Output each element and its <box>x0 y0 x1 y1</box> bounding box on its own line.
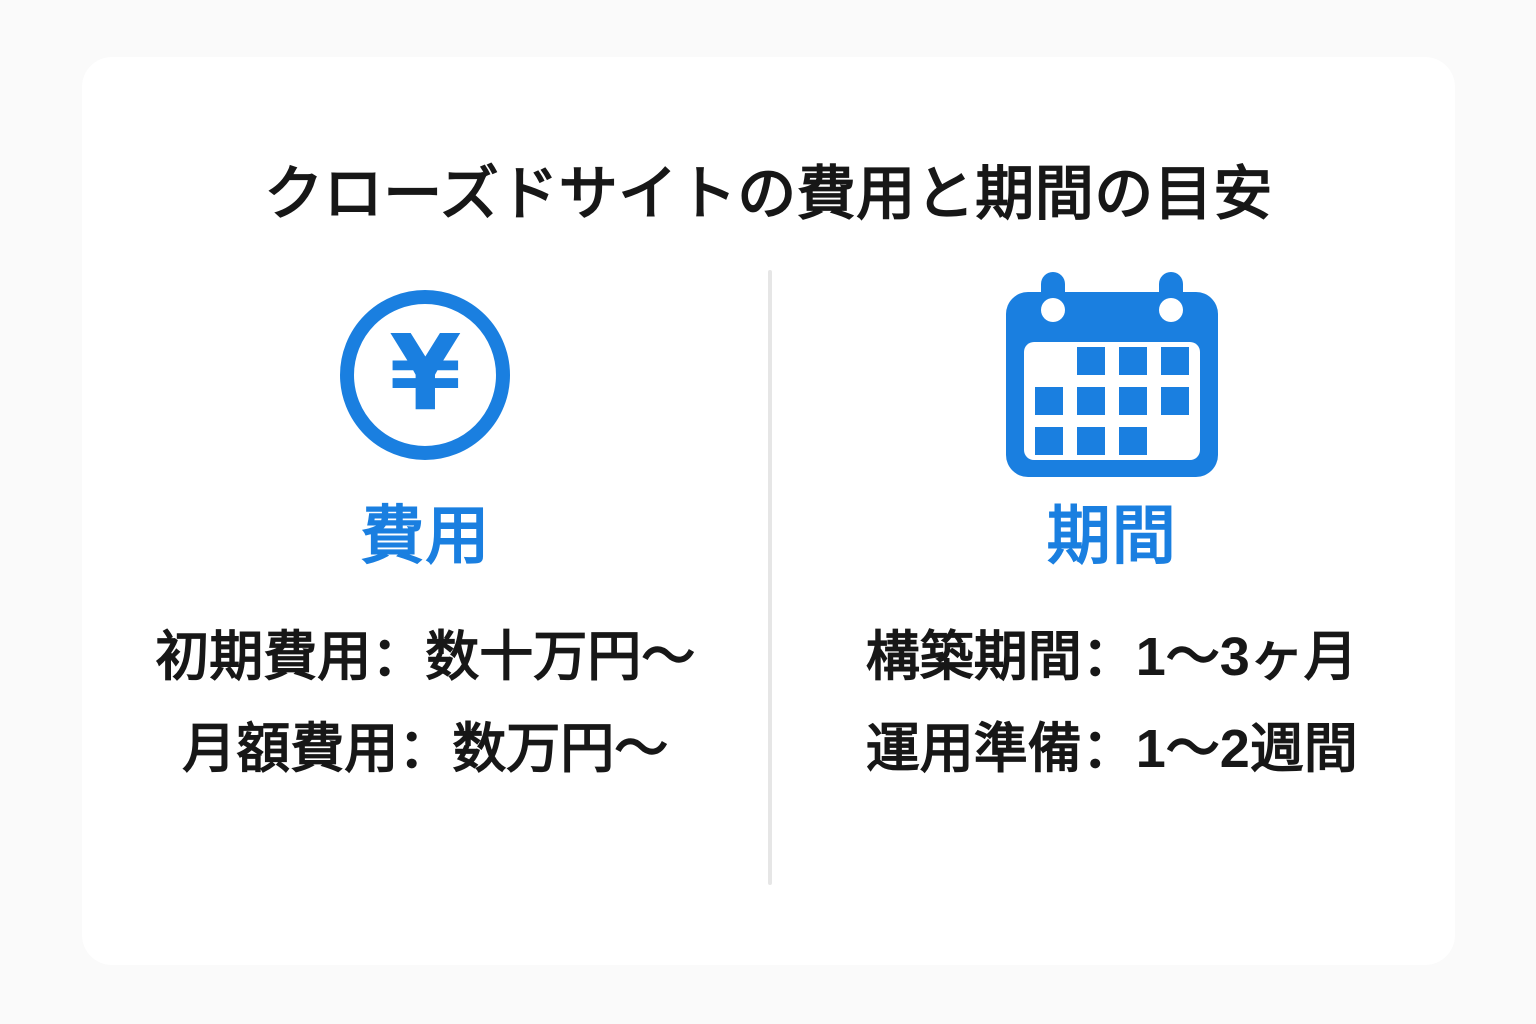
screenshot-stage: クローズドサイトの費用と期間の目安 ¥ 費用 初期費用：数十万円〜 月額費用：数… <box>0 0 1536 1024</box>
calendar-cell <box>1119 347 1147 375</box>
calendar-cell <box>1035 347 1063 375</box>
cost-line-monthly: 月額費用：数万円〜 <box>182 722 668 776</box>
calendar-cell <box>1119 387 1147 415</box>
duration-line-build: 構築期間：1〜3ヶ月 <box>866 630 1358 684</box>
duration-line-prep: 運用準備：1〜2週間 <box>866 722 1358 776</box>
calendar-cell <box>1035 427 1063 455</box>
cost-icon-wrap: ¥ <box>340 267 510 482</box>
calendar-grid <box>1024 342 1200 460</box>
calendar-cell <box>1161 347 1189 375</box>
calendar-cell <box>1077 427 1105 455</box>
yen-symbol-icon: ¥ <box>389 321 461 425</box>
cost-lines: 初期費用：数十万円〜 月額費用：数万円〜 <box>155 630 695 776</box>
page-title: クローズドサイトの費用と期間の目安 <box>82 165 1455 224</box>
calendar-cell <box>1035 387 1063 415</box>
yen-circle-icon: ¥ <box>340 290 510 460</box>
column-label-duration: 期間 <box>1047 504 1177 568</box>
calendar-cell <box>1161 387 1189 415</box>
info-card: クローズドサイトの費用と期間の目安 ¥ 費用 初期費用：数十万円〜 月額費用：数… <box>82 57 1455 965</box>
calendar-hole-right <box>1159 298 1183 322</box>
cost-line-initial: 初期費用：数十万円〜 <box>155 630 695 684</box>
duration-lines: 構築期間：1〜3ヶ月 運用準備：1〜2週間 <box>866 630 1358 776</box>
column-label-cost: 費用 <box>360 504 490 568</box>
columns-container: ¥ 費用 初期費用：数十万円〜 月額費用：数万円〜 <box>82 267 1455 907</box>
calendar-hole-left <box>1041 298 1065 322</box>
calendar-cell <box>1161 427 1189 455</box>
column-duration: 期間 構築期間：1〜3ヶ月 運用準備：1〜2週間 <box>769 267 1456 907</box>
calendar-cell <box>1119 427 1147 455</box>
calendar-cell <box>1077 347 1105 375</box>
calendar-cell <box>1077 387 1105 415</box>
column-cost: ¥ 費用 初期費用：数十万円〜 月額費用：数万円〜 <box>82 267 769 907</box>
duration-icon-wrap <box>1006 267 1218 482</box>
calendar-icon <box>1006 272 1218 477</box>
